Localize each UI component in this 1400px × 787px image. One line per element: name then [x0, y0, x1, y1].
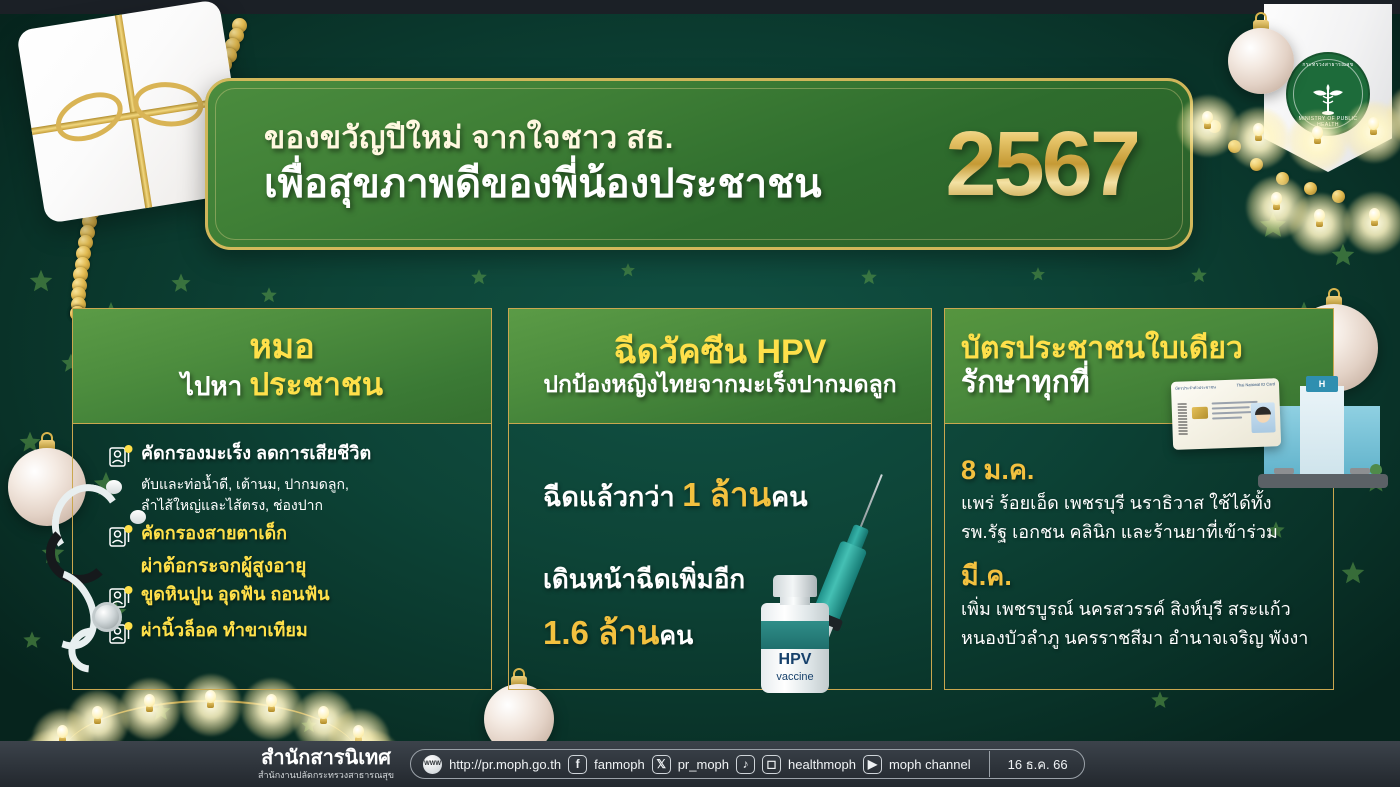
bulb-base [320, 718, 327, 724]
card2-stat1-number: 1 ล้าน [682, 476, 771, 513]
footer: สำนักสารนิเทศ สำนักงานปลัดกระทรวงสาธารณส… [0, 741, 1400, 787]
bulb-base [268, 706, 275, 712]
vial-sublabel: vaccine [761, 671, 829, 683]
list-item: คัดกรองมะเร็ง ลดการเสียชีวิต [109, 442, 475, 470]
card3-entry-line2: หนองบัวลำภู นครราชสีมา อำนาจเจริญ พังงา [961, 625, 1317, 652]
stethoscope-decoration [8, 470, 168, 700]
footer-divider [989, 751, 990, 777]
seal-thai-text: กระทรวงสาธารณสุข [1288, 61, 1368, 69]
id-card-title: บัตรประจำตัวประชาชน Thai National ID Car… [1175, 381, 1275, 395]
page-title-line2: เพื่อสุขภาพดีของพี่น้องประชาชน [264, 159, 945, 209]
bulb-base [1370, 129, 1377, 135]
footer-org-title: สำนักสารนิเทศ [258, 748, 394, 768]
bulb-core [92, 706, 103, 719]
header-plaque: ของขวัญปีใหม่ จากใจชาว สธ. เพื่อสุขภาพดี… [205, 78, 1193, 250]
card2-title: ฉีดวัคซีน HPV [525, 334, 915, 371]
tiktok-icon[interactable]: ♪ [736, 755, 755, 774]
card2-subtitle: ปกป้องหญิงไทยจากมะเร็งปากมดลูก [525, 371, 915, 399]
list-item-title: คัดกรองมะเร็ง ลดการเสียชีวิต [141, 442, 371, 465]
card3-title: บัตรประชาชนใบเดียว [961, 332, 1317, 365]
list-item-title: ขูดหินปูน อุดฟัน ถอนฟัน [141, 583, 330, 606]
person-pin-icon [109, 444, 133, 470]
card3-entry-line1: แพร่ ร้อยเอ็ด เพชรบุรี นราธิวาส ใช้ได้ทั… [961, 490, 1317, 517]
facebook-handle[interactable]: fanmoph [594, 757, 645, 772]
youtube-handle[interactable]: moph channel [889, 757, 971, 772]
instagram-icon[interactable]: ◻ [762, 755, 781, 774]
bulb-core [1314, 209, 1325, 222]
x-handle[interactable]: pr_moph [678, 757, 729, 772]
card1-subtitle: ไปหา ประชาชน [89, 366, 475, 403]
card1-subtitle-accent: ประชาชน [249, 367, 383, 402]
id-card-title-english: Thai National ID Card [1236, 381, 1275, 387]
bulb-core [1253, 123, 1264, 136]
website-url[interactable]: http://pr.moph.go.th [449, 757, 561, 772]
footer-org-subtitle: สำนักงานปลัดกระทรวงสาธารณสุข [258, 771, 394, 780]
card3-entry-date: มี.ค. [961, 560, 1317, 594]
vaccine-vial-illustration: HPV vaccine [753, 575, 837, 693]
bulb-core [205, 690, 216, 703]
bulb-core [1369, 208, 1380, 221]
ornament-ball [1228, 12, 1294, 94]
card2-header: ฉีดวัคซีน HPV ปกป้องหญิงไทยจากมะเร็งปากม… [508, 308, 932, 424]
card1-subtitle-prefix: ไปหา [181, 371, 250, 401]
publish-date: 16 ธ.ค. 66 [1008, 754, 1072, 775]
card1-header: หมอ ไปหา ประชาชน [72, 308, 492, 424]
globe-icon: WWW [423, 755, 442, 774]
card2-stat2-number: 1.6 ล้าน [543, 614, 659, 651]
instagram-handle[interactable]: healthmoph [788, 757, 856, 772]
bulb-core [1202, 111, 1213, 124]
bulb-core [1312, 126, 1323, 139]
card2-stat1-prefix: ฉีดแล้วกว่า [543, 482, 682, 512]
card3-entry-line2: รพ.รัฐ เอกชน คลินิก และร้านยาที่เข้าร่วม [961, 519, 1317, 546]
vial-label: HPV [761, 651, 829, 669]
id-card-title-thai: บัตรประจำตัวประชาชน [1175, 384, 1216, 390]
year-badge: 2567 [945, 118, 1144, 210]
card3-entry-line1: เพิ่ม เพชรบูรณ์ นครสวรรค์ สิงห์บุรี สระแ… [961, 596, 1317, 623]
x-twitter-icon[interactable]: 𝕏 [652, 755, 671, 774]
bulb-base [1255, 135, 1262, 141]
bulb-base [146, 706, 153, 712]
card-id-card-anywhere: บัตรประชาชนใบเดียว รักษาทุกที่ 8 ม.ค. แพ… [944, 308, 1334, 690]
card2-stat2-suffix: คน [659, 622, 693, 650]
facebook-icon[interactable]: f [568, 755, 587, 774]
card1-title: หมอ [89, 329, 475, 366]
infographic-poster: กระทรวงสาธารณสุข MINISTRY OF PUBLIC HEAL… [0, 0, 1400, 787]
bulb-base [94, 718, 101, 724]
bulb-core [1271, 192, 1282, 205]
bulb-base [1371, 220, 1378, 226]
card2-stat1-suffix: คน [771, 482, 808, 512]
bulb-core [1368, 117, 1379, 130]
footer-org: สำนักสารนิเทศ สำนักงานปลัดกระทรวงสาธารณส… [258, 748, 394, 780]
page-title-line1: ของขวัญปีใหม่ จากใจชาว สธ. [264, 119, 945, 158]
national-id-card-illustration: บัตรประจำตัวประชาชน Thai National ID Car… [1171, 378, 1281, 450]
footer-channels-pill: WWW http://pr.moph.go.th f fanmoph 𝕏 pr_… [410, 749, 1085, 779]
youtube-icon[interactable]: ▶ [863, 755, 882, 774]
hospital-sign: H [1306, 376, 1338, 392]
